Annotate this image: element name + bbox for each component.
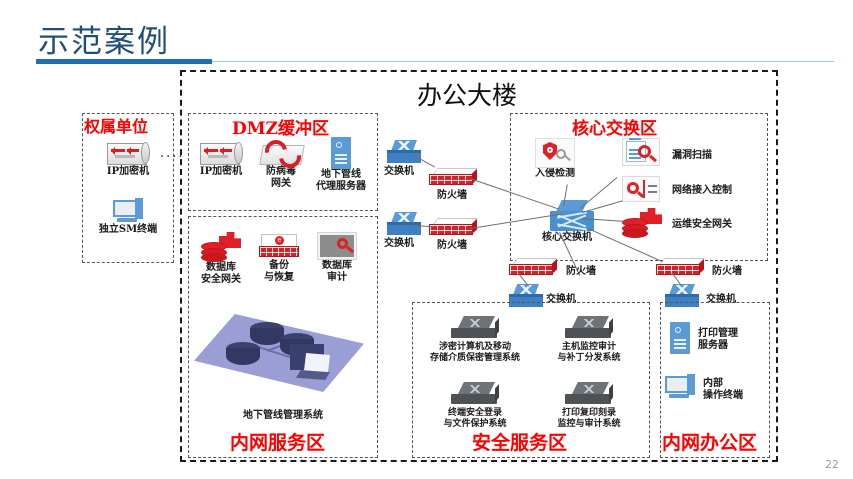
node-label: 备份 与恢复	[250, 260, 308, 284]
ops-security-gateway-icon	[622, 208, 662, 238]
node-print-management-server	[668, 322, 692, 354]
backup-recovery-icon: e	[259, 234, 299, 260]
page-title: 示范案例	[38, 16, 170, 61]
ops-security-gateway-label: 运维安全网关	[672, 219, 732, 231]
node-label: 独立SM终端	[88, 224, 168, 236]
title-underline-rule	[212, 61, 834, 62]
node-owner-sm-terminal: 独立SM终端	[88, 198, 168, 236]
node-vulnerability-scan	[621, 138, 661, 166]
node-label: 地下管线 代理服务器	[310, 169, 372, 193]
dmz-title: DMZ缓冲区	[232, 114, 329, 139]
node-label: 打印复印刻录 监控与审计系统	[534, 408, 644, 430]
page-number: 22	[825, 458, 839, 471]
node-database-audit: 数据库 审计	[308, 232, 366, 284]
node-dmz-ip-encryptor: IP加密机	[190, 140, 252, 178]
node-switch-dmz	[383, 140, 425, 164]
node-label: 防病毒 网关	[252, 166, 310, 190]
node-network-access-control	[622, 176, 660, 202]
node-firewall-dmz	[428, 168, 476, 186]
node-intrusion-detection: 入侵检测	[524, 138, 586, 180]
node-label: 涉密计算机及移动 存储介质保密管理系统	[418, 342, 532, 364]
owner-dmz-link-dots: ····	[160, 150, 185, 165]
server-appliance-icon	[565, 382, 613, 408]
node-firewall-service	[428, 218, 476, 236]
security-service-title: 安全服务区	[472, 428, 567, 455]
database-security-gateway-icon	[201, 232, 241, 262]
switch-label-service: 交换机	[384, 238, 414, 250]
firewall-label-office: 防火墙	[712, 266, 742, 278]
isometric-pipeline-system-icon	[194, 300, 374, 410]
node-classified-computer-mgmt: 涉密计算机及移动 存储介质保密管理系统	[418, 316, 532, 364]
switch-icon	[387, 212, 421, 236]
switch-icon	[387, 140, 421, 164]
node-antivirus-gateway: 防病毒 网关	[252, 140, 310, 190]
intranet-service-title: 内网服务区	[230, 428, 325, 455]
main-title: 办公大楼	[417, 76, 517, 112]
node-label: 主机监控审计 与补丁分发系统	[534, 342, 644, 364]
ip-encryptor-icon	[105, 140, 151, 166]
firewall-icon	[509, 258, 555, 276]
switch-label-dmz: 交换机	[384, 166, 414, 178]
print-management-server-label: 打印管理 服务器	[698, 328, 738, 352]
server-appliance-icon	[451, 382, 499, 408]
node-terminal-secure-login: 终端安全登录 与文件保护系统	[418, 382, 532, 430]
core-switch-label: 核心交换机	[542, 232, 592, 244]
vulnerability-scan-label: 漏洞扫描	[672, 150, 712, 162]
node-label: IP加密机	[88, 166, 168, 178]
firewall-icon	[429, 168, 475, 186]
antivirus-gateway-icon	[259, 140, 303, 166]
server-appliance-icon	[565, 316, 613, 342]
node-switch-service	[383, 212, 425, 236]
vulnerability-scan-icon	[622, 138, 660, 166]
network-access-control-icon	[622, 176, 660, 202]
node-host-monitor-patch: 主机监控审计 与补丁分发系统	[534, 316, 644, 364]
node-backup-recovery: e 备份 与恢复	[250, 234, 308, 284]
proxy-server-icon	[331, 137, 351, 169]
node-firewall-office	[655, 258, 703, 276]
server-appliance-icon	[451, 316, 499, 342]
firewall-label-service: 防火墙	[437, 240, 467, 252]
database-audit-icon	[317, 232, 357, 260]
node-internal-operation-terminal	[664, 374, 696, 400]
node-core-switch	[548, 200, 596, 232]
node-firewall-security	[508, 258, 556, 276]
node-print-copy-burn-audit: 打印复印刻录 监控与审计系统	[534, 382, 644, 430]
node-pipeline-proxy-server: 地下管线 代理服务器	[310, 137, 372, 193]
intrusion-detection-icon	[535, 138, 575, 168]
node-label: 数据库 审计	[308, 260, 366, 284]
firewall-label-dmz: 防火墙	[437, 190, 467, 202]
ip-encryptor-icon	[198, 140, 244, 166]
node-label: 入侵检测	[524, 168, 586, 180]
node-label: 终端安全登录 与文件保护系统	[418, 408, 532, 430]
core-switch-zone-title: 核心交换区	[572, 114, 657, 139]
node-label: IP加密机	[190, 166, 252, 178]
node-owner-ip-encryptor: IP加密机	[88, 140, 168, 178]
node-underground-pipeline-system: 地下管线管理系统	[194, 300, 372, 422]
network-access-control-label: 网络接入控制	[672, 185, 732, 197]
firewall-icon	[656, 258, 702, 276]
pc-terminal-icon	[113, 198, 143, 224]
node-db-security-gateway: 数据库 安全网关	[190, 232, 252, 286]
node-label: 地下管线管理系统	[194, 410, 372, 422]
owner-unit-title: 权属单位	[84, 113, 148, 137]
print-management-server-icon	[670, 322, 690, 354]
internal-operation-terminal-label: 内部 操作终端	[703, 378, 743, 402]
firewall-icon	[429, 218, 475, 236]
node-ops-security-gateway	[622, 208, 662, 238]
firewall-label-security: 防火墙	[566, 266, 596, 278]
node-label: 数据库 安全网关	[190, 262, 252, 286]
slide-canvas: 示范案例 办公大楼 权属单位 IP加密机 独立SM终端 ···· DMZ缓冲区 …	[0, 0, 853, 479]
title-underline-accent	[36, 59, 212, 64]
internal-operation-terminal-icon	[665, 374, 695, 400]
intranet-office-title: 内网办公区	[662, 428, 757, 455]
